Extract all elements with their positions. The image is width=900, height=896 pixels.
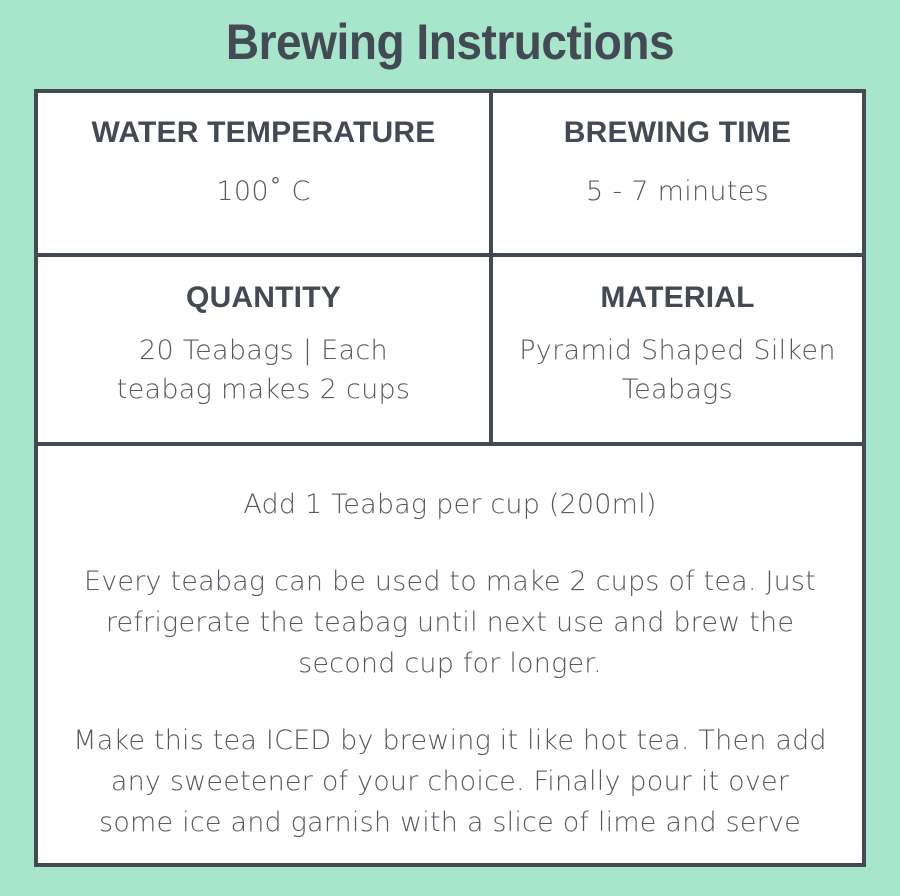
- cell-heading: MATERIAL: [600, 281, 754, 315]
- cell-quantity: QUANTITY 20 Teabags | Each teabag makes …: [38, 257, 493, 442]
- cell-value: 20 Teabags | Each teabag makes 2 cups: [117, 331, 411, 409]
- cell-value: Pyramid Shaped Silken Teabags: [519, 331, 836, 409]
- cell-material: MATERIAL Pyramid Shaped Silken Teabags: [493, 257, 862, 442]
- cell-value: 5 - 7 minutes: [586, 172, 769, 211]
- page-title: Brewing Instructions: [36, 14, 864, 70]
- cell-value-line: 20 Teabags | Each: [117, 331, 411, 370]
- cell-heading: WATER TEMPERATURE: [92, 116, 436, 150]
- cell-value-line: Teabags: [519, 370, 836, 409]
- notes-section: Add 1 Teabag per cup (200ml) Every teaba…: [38, 446, 862, 863]
- cell-brewing-time: BREWING TIME 5 - 7 minutes: [493, 93, 862, 253]
- table-row: WATER TEMPERATURE 100˚ C BREWING TIME 5 …: [38, 93, 862, 257]
- cell-water-temperature: WATER TEMPERATURE 100˚ C: [38, 93, 493, 253]
- table-row: QUANTITY 20 Teabags | Each teabag makes …: [38, 257, 862, 446]
- instructions-table: WATER TEMPERATURE 100˚ C BREWING TIME 5 …: [34, 89, 866, 867]
- note-iced: Make this tea ICED by brewing it like ho…: [72, 720, 828, 843]
- cell-value-line: Pyramid Shaped Silken: [519, 331, 836, 370]
- cell-value: 100˚ C: [216, 172, 310, 211]
- cell-heading: QUANTITY: [186, 281, 341, 315]
- cell-value-line: teabag makes 2 cups: [117, 370, 411, 409]
- cell-heading: BREWING TIME: [564, 116, 791, 150]
- note-dosage: Add 1 Teabag per cup (200ml): [243, 484, 656, 525]
- note-reuse: Every teabag can be used to make 2 cups …: [72, 561, 828, 684]
- brewing-instructions-card: Brewing Instructions WATER TEMPERATURE 1…: [0, 0, 900, 896]
